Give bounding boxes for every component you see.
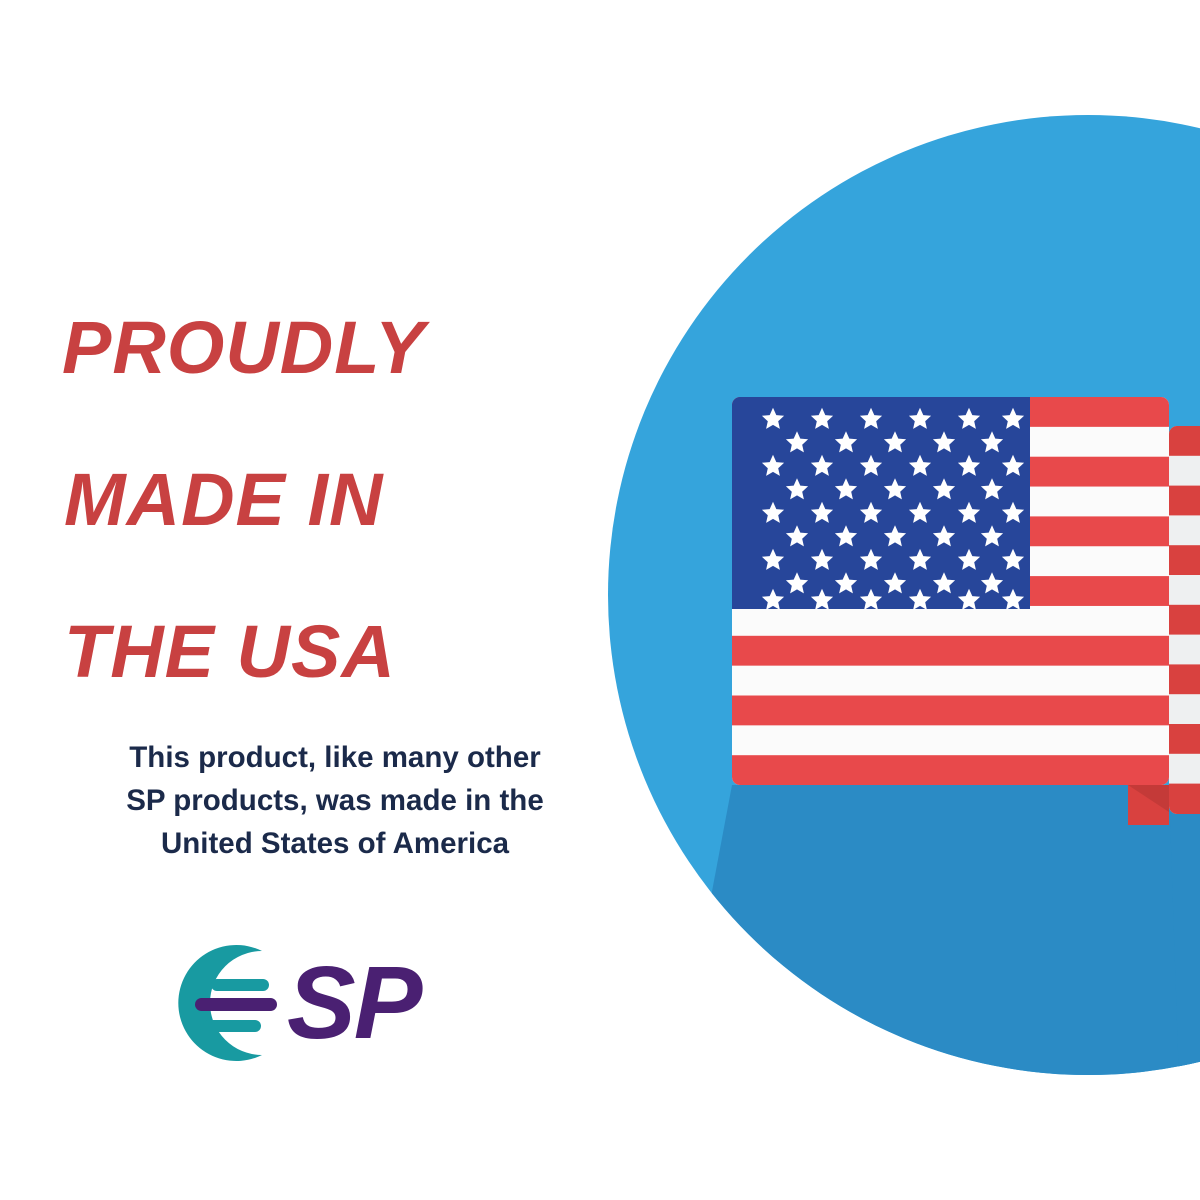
description-block: This product, like many other SP product…	[60, 736, 610, 865]
dna-bar-middle	[195, 998, 277, 1011]
headline-line-3: THE USA	[62, 576, 662, 728]
headline-line-2: MADE IN	[62, 424, 662, 576]
description-line-3: United States of America	[60, 822, 610, 865]
dna-bar-top	[211, 979, 269, 991]
description-line-2: SP products, was made in the	[60, 779, 610, 822]
sp-logo: SP	[165, 935, 505, 1075]
sp-dna-circle-emblem-icon	[165, 935, 301, 1071]
made-in-usa-badge-image: PROUDLY MADE IN THE USA This product, li…	[0, 0, 1200, 1200]
flag-canton	[732, 397, 1030, 609]
headline-block: PROUDLY MADE IN THE USA	[62, 272, 662, 728]
description-line-1: This product, like many other	[60, 736, 610, 779]
american-flag	[732, 397, 1169, 785]
dna-bar-bottom	[203, 1020, 261, 1032]
sp-wordmark: SP	[287, 951, 420, 1054]
flag-long-shadow	[560, 785, 1200, 1200]
headline-line-1: PROUDLY	[62, 272, 662, 424]
